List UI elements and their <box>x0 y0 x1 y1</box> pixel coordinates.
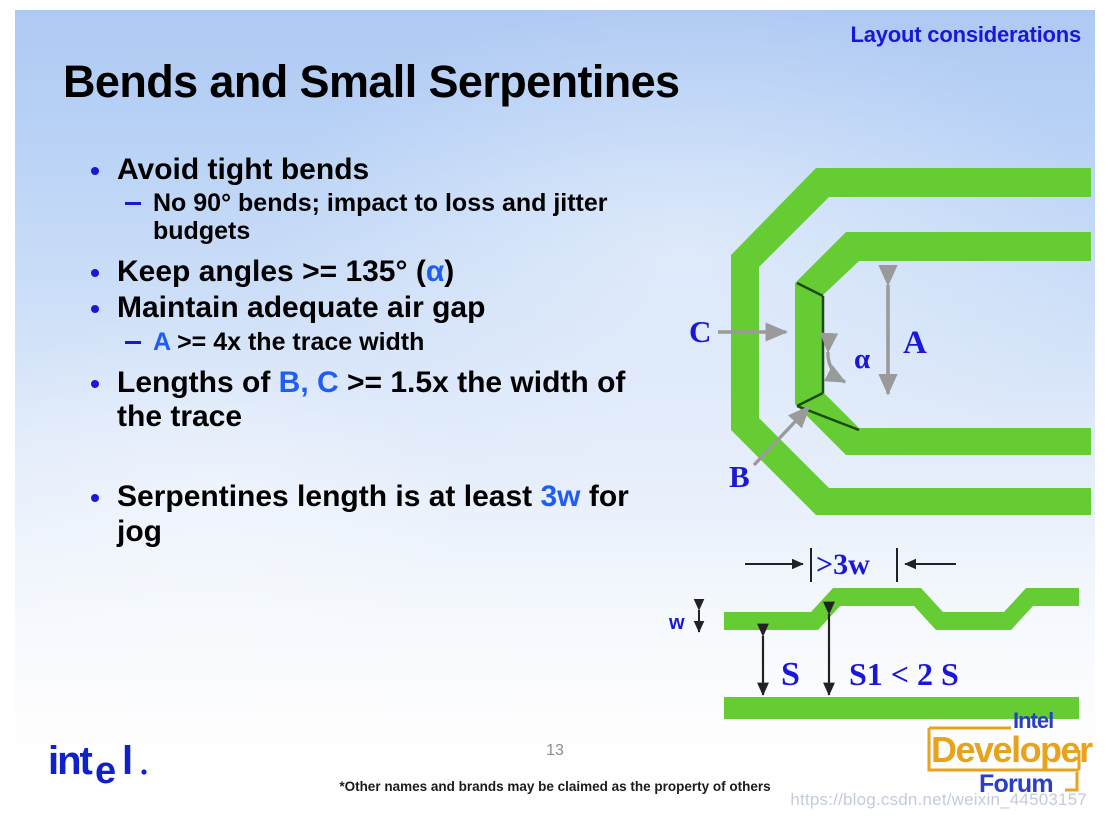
bullet-dot-icon <box>91 380 99 388</box>
bend-trace-diagram: C B A α <box>611 160 1091 530</box>
label-s1-rule: S1 < 2 S <box>849 656 959 692</box>
bullet-highlight-3w: 3w <box>540 480 580 513</box>
sub-bullet-text: No 90° bends; impact to loss and jitter … <box>153 189 608 245</box>
bullet-item-air-gap: Maintain adequate air gap <box>83 291 643 325</box>
bullet-dot-icon <box>91 269 99 277</box>
serpentine-top-trace <box>724 588 1079 630</box>
bullet-highlight-alpha: α <box>426 255 444 288</box>
dash-bullet-icon <box>125 202 141 205</box>
slide-canvas: Layout considerations Bends and Small Se… <box>15 10 1095 816</box>
watermark-url: https://blog.csdn.net/weixin_44503157 <box>790 790 1087 810</box>
bullet-text: Keep angles >= 135° ( <box>117 255 426 288</box>
bullet-highlight-bc: B, C <box>279 366 339 399</box>
bullet-text-suffix: ) <box>444 255 454 288</box>
intel-logo-dot <box>141 769 146 774</box>
label-w: w <box>668 612 685 634</box>
intel-developer-forum-logo: Intel Developer Forum <box>915 706 1093 798</box>
label-s: S <box>781 656 800 693</box>
bullet-dot-icon <box>91 305 99 313</box>
bullet-item-serpentine-length: Serpentines length is at least 3w for jo… <box>83 480 643 548</box>
bullet-dot-icon <box>91 167 99 175</box>
bullet-item-lengths-bc: Lengths of B, C >= 1.5x the width of the… <box>83 366 643 434</box>
bullet-text: Serpentines length is at least <box>117 480 540 513</box>
sub-bullet-no-90-bends: No 90° bends; impact to loss and jitter … <box>83 190 643 245</box>
bullet-text: Maintain adequate air gap <box>117 291 485 324</box>
bullet-text: Lengths of <box>117 366 279 399</box>
label-a: A <box>903 325 927 361</box>
bullet-item-avoid-tight-bends: Avoid tight bends <box>83 153 643 187</box>
bullet-list: Avoid tight bends No 90° bends; impact t… <box>83 153 643 551</box>
bullet-dot-icon <box>91 494 99 502</box>
label-jog-width: >3w <box>816 548 870 581</box>
sub-bullet-a-trace-width: A >= 4x the trace width <box>83 329 643 357</box>
alpha-angle-arc <box>828 352 845 382</box>
label-b: B <box>729 459 750 494</box>
idf-logo-line2: Developer <box>931 729 1093 770</box>
sub-bullet-text: >= 4x the trace width <box>170 328 424 356</box>
slide-kicker: Layout considerations <box>850 22 1081 48</box>
sub-bullet-highlight-a: A <box>153 328 170 356</box>
bullet-text: Avoid tight bends <box>117 153 369 186</box>
label-c: C <box>689 314 711 349</box>
bullet-item-keep-angles: Keep angles >= 135° (α) <box>83 255 643 289</box>
slide-title: Bends and Small Serpentines <box>63 56 679 108</box>
dash-bullet-icon <box>125 341 141 344</box>
label-alpha: α <box>854 343 870 375</box>
